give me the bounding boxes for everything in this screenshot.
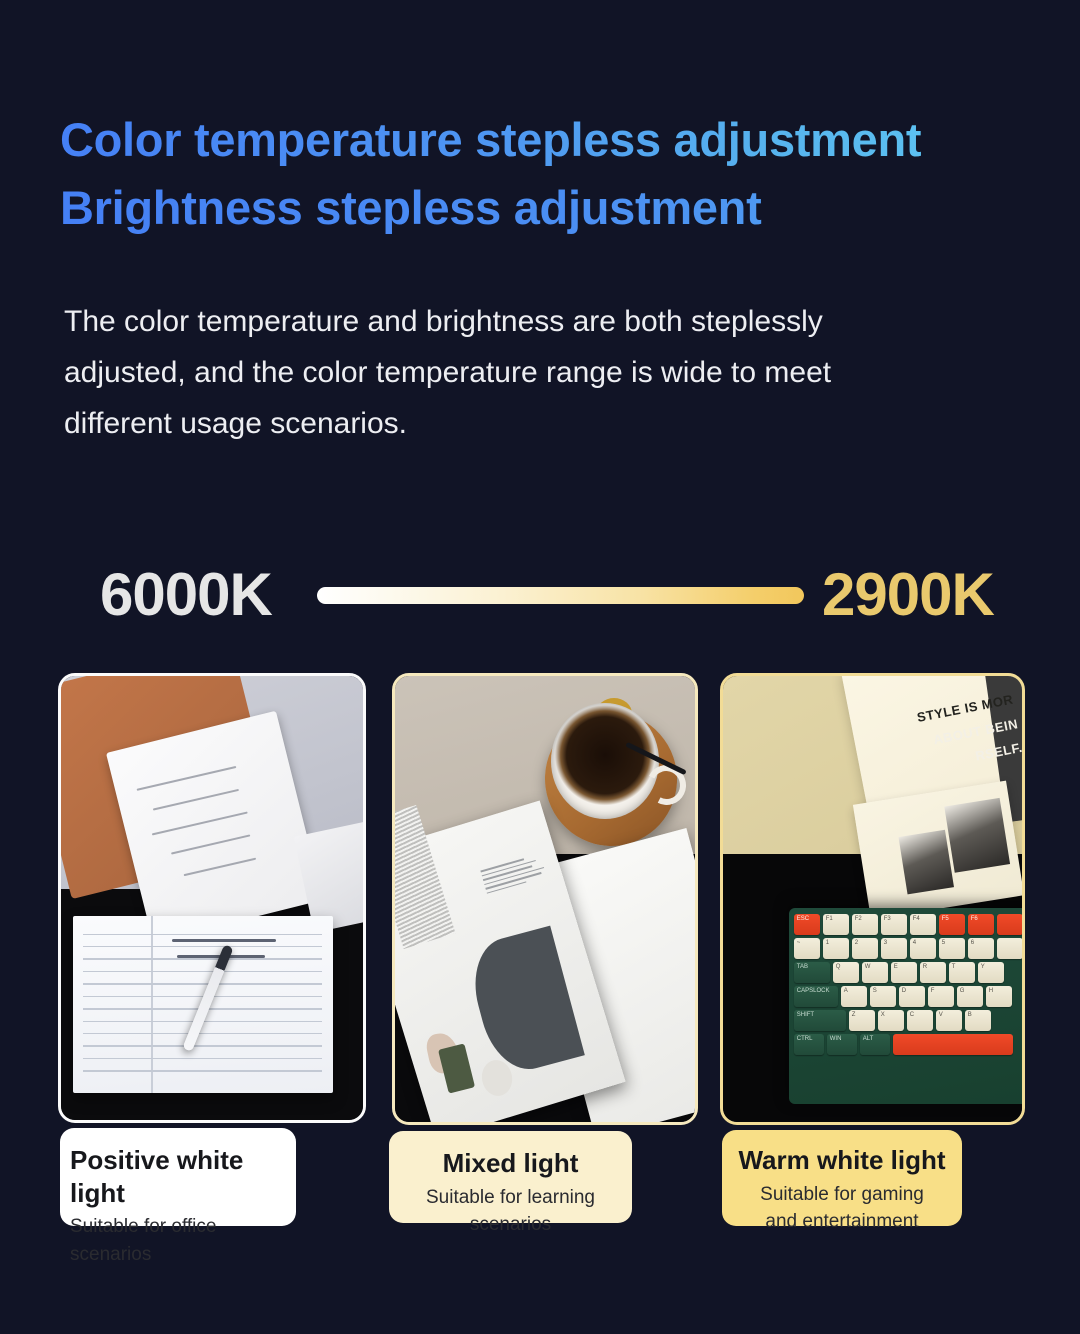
card-caption-2: Mixed light Suitable for learning scenar… <box>389 1131 632 1223</box>
headline-line-1: Color temperature stepless adjustment <box>60 106 1020 174</box>
key-f6: F6 <box>968 914 994 935</box>
key-6: 6 <box>968 938 994 959</box>
key-f5: F5 <box>939 914 965 935</box>
notebook-spine <box>151 916 153 1094</box>
card-title-2: Mixed light <box>403 1147 618 1180</box>
key-w: W <box>862 962 888 983</box>
key-f7 <box>997 914 1023 935</box>
key-shift: SHIFT <box>794 1010 846 1031</box>
scene-photo-coffee-book <box>392 673 698 1125</box>
key-f3: F3 <box>881 914 907 935</box>
keyboard-row-bottom-letters: SHIFT Z X C V B <box>794 1010 1025 1031</box>
key-y: Y <box>978 962 1004 983</box>
mechanical-keyboard: ESC F1 F2 F3 F4 F5 F6 ~ 1 2 3 4 5 6 <box>789 908 1025 1104</box>
key-tab: TAB <box>794 962 830 983</box>
key-tilde: ~ <box>794 938 820 959</box>
key-t: T <box>949 962 975 983</box>
key-win: WIN <box>827 1034 857 1055</box>
keyboard-row-modifiers: CTRL WIN ALT <box>794 1034 1025 1055</box>
key-r: R <box>920 962 946 983</box>
key-a: A <box>841 986 867 1007</box>
body-paragraph: The color temperature and brightness are… <box>64 296 1004 449</box>
key-c: C <box>907 1010 933 1031</box>
key-g: G <box>957 986 983 1007</box>
keyboard-row-numbers: ~ 1 2 3 4 5 6 <box>794 938 1025 959</box>
page-headline: Color temperature stepless adjustment Br… <box>60 106 1020 241</box>
promo-page: Color temperature stepless adjustment Br… <box>0 0 1080 1334</box>
temperature-warm-label: 2900K <box>822 565 994 625</box>
scene-photo-keyboard: STYLE IS MOR ABOUT BEIN RSELF. ESC F1 F2… <box>720 673 1025 1125</box>
key-ctrl: CTRL <box>794 1034 824 1055</box>
photo-print <box>852 781 1024 920</box>
keyboard-row-qwerty: TAB Q W E R T Y <box>794 962 1025 983</box>
temperature-cool-label: 6000K <box>100 565 305 625</box>
key-esc: ESC <box>794 914 820 935</box>
headline-line-2: Brightness stepless adjustment <box>60 174 1020 242</box>
key-q: Q <box>833 962 859 983</box>
key-f4: F4 <box>910 914 936 935</box>
key-3: 3 <box>881 938 907 959</box>
key-v: V <box>936 1010 962 1031</box>
scene-photo-notebook <box>58 673 366 1123</box>
key-z: Z <box>849 1010 875 1031</box>
card-caption-1: Positive white light Suitable for office… <box>60 1128 296 1226</box>
key-1: 1 <box>823 938 849 959</box>
body-line-2: adjusted, and the color temperature rang… <box>64 347 1004 398</box>
card-title-3: Warm white light <box>736 1144 948 1177</box>
key-spacebar <box>893 1034 1013 1055</box>
key-f1: F1 <box>823 914 849 935</box>
key-4: 4 <box>910 938 936 959</box>
card-subtitle-1: Suitable for office scenarios <box>70 1213 282 1268</box>
temperature-gradient-bar <box>317 587 804 604</box>
key-capslock: CAPSLOCK <box>794 986 838 1007</box>
key-s: S <box>870 986 896 1007</box>
card-caption-3: Warm white light Suitable for gaming and… <box>722 1130 962 1226</box>
key-f: F <box>928 986 954 1007</box>
key-e: E <box>891 962 917 983</box>
coffee-cup <box>551 703 659 819</box>
key-b: B <box>965 1010 991 1031</box>
key-h: H <box>986 986 1012 1007</box>
key-7 <box>997 938 1023 959</box>
keyboard-row-home: CAPSLOCK A S D F G H <box>794 986 1025 1007</box>
key-d: D <box>899 986 925 1007</box>
key-alt: ALT <box>860 1034 890 1055</box>
key-f2: F2 <box>852 914 878 935</box>
body-line-3: different usage scenarios. <box>64 398 1004 449</box>
portrait-face-1 <box>944 798 1010 873</box>
card-subtitle-2: Suitable for learning scenarios <box>403 1184 618 1239</box>
keyboard-row-function: ESC F1 F2 F3 F4 F5 F6 <box>794 914 1025 935</box>
card-title-1: Positive white light <box>70 1144 282 1209</box>
key-x: X <box>878 1010 904 1031</box>
card-subtitle-3: Suitable for gaming and entertainment <box>736 1181 948 1236</box>
body-line-1: The color temperature and brightness are… <box>64 296 1004 347</box>
key-2: 2 <box>852 938 878 959</box>
portrait-face-2 <box>899 830 954 895</box>
key-5: 5 <box>939 938 965 959</box>
color-temperature-scale: 6000K 2900K <box>0 552 1080 638</box>
